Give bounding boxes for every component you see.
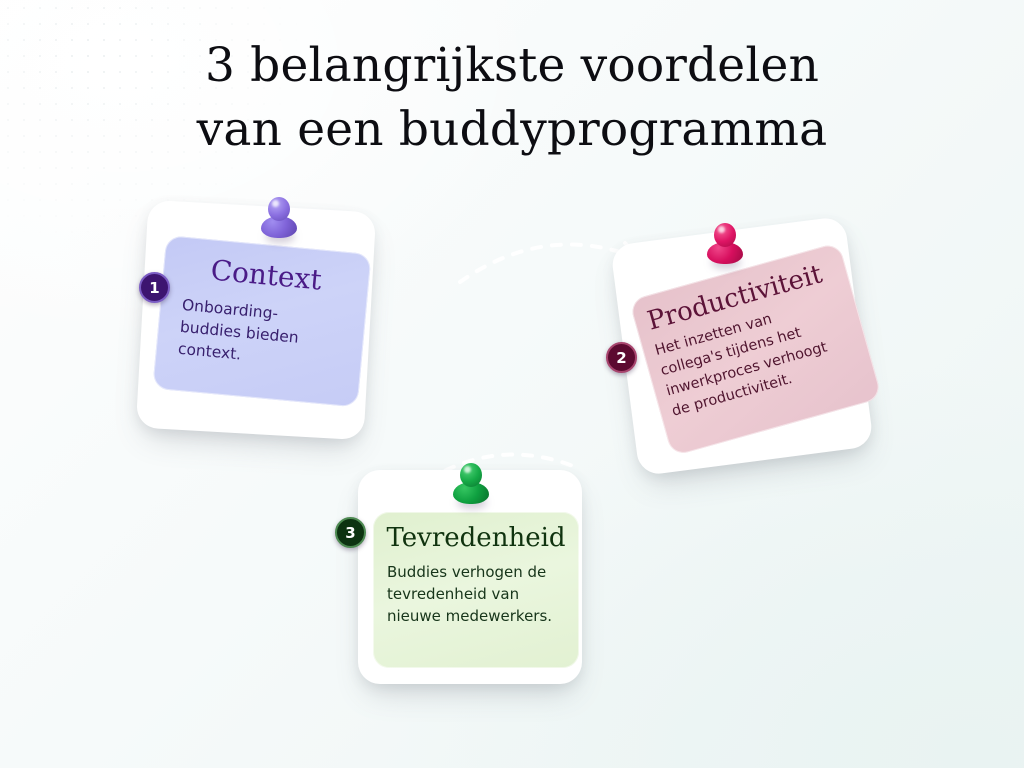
page-title: 3 belangrijkste voordelen van een buddyp…	[0, 34, 1024, 162]
card-panel: Productiviteit Het inzetten van collega'…	[629, 242, 883, 457]
pushpin-icon-pink	[702, 222, 748, 272]
card-title: Context	[162, 249, 370, 301]
benefit-card-2[interactable]: Productiviteit Het inzetten van collega'…	[612, 230, 884, 480]
card-body: Onboarding- buddies bieden context.	[177, 294, 366, 377]
card-title: Tevredenheid	[373, 523, 579, 553]
card-body: Buddies verhogen de tevredenheid van nie…	[387, 562, 579, 628]
step-badge-3: 3	[335, 517, 366, 548]
card-panel: Context Onboarding- buddies bieden conte…	[152, 235, 371, 407]
pin-gloss	[464, 466, 471, 473]
pin-head	[714, 223, 736, 247]
pushpin-icon-purple	[256, 196, 302, 246]
step-badge-2: 2	[606, 342, 637, 373]
step-badge-1: 1	[139, 272, 170, 303]
pin-head	[460, 463, 482, 487]
pin-gloss	[272, 200, 279, 207]
pin-gloss	[718, 226, 725, 233]
pin-head	[268, 197, 290, 221]
card-panel: Tevredenheid Buddies verhogen de tevrede…	[373, 512, 579, 668]
pushpin-icon-green	[448, 462, 494, 512]
